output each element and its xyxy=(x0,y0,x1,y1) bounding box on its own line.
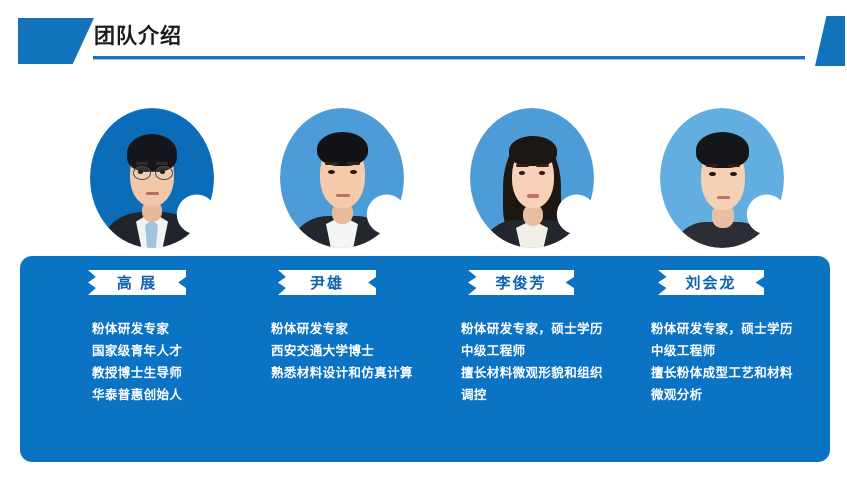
avatar-member-1 xyxy=(78,104,226,252)
bio-line: 西安交通大学博士 xyxy=(271,340,413,362)
portrait-brow-right-4 xyxy=(727,164,740,167)
portrait-eye-left-1 xyxy=(138,170,143,174)
portrait-eye-right-3 xyxy=(539,171,545,175)
portrait-eye-right-1 xyxy=(160,170,165,174)
bio-line: 擅长材料微观形貌和组织 xyxy=(461,362,603,384)
member-name-4: 刘会龙 xyxy=(685,272,736,293)
portrait-mouth-3 xyxy=(527,194,539,198)
member-bio-2: 粉体研发专家 西安交通大学博士 熟悉材料设计和仿真计算 xyxy=(271,318,413,384)
avatar-photo-1 xyxy=(90,108,214,248)
member-bio-4: 粉体研发专家，硕士学历 中级工程师 擅长粉体成型工艺和材料 微观分析 xyxy=(651,318,793,406)
name-badge-2: 尹雄 xyxy=(278,270,376,295)
portrait-tie-1 xyxy=(145,220,158,248)
portrait-glasses-bridge-1 xyxy=(149,171,155,172)
portrait-brow-right-1 xyxy=(156,162,168,165)
bio-line: 国家级青年人才 xyxy=(92,340,182,362)
bio-line: 擅长粉体成型工艺和材料 xyxy=(651,362,793,384)
name-badge-1: 高 展 xyxy=(88,270,186,295)
name-badge-3: 李俊芳 xyxy=(468,270,574,295)
bio-line: 粉体研发专家 xyxy=(271,318,413,340)
portrait-brow-right-3 xyxy=(536,164,549,167)
header-divider-soft xyxy=(93,59,805,60)
avatar-row xyxy=(0,104,847,264)
portrait-mouth-1 xyxy=(146,192,159,195)
portrait-brow-left-4 xyxy=(706,164,719,167)
portrait-brow-left-3 xyxy=(516,164,529,167)
portrait-hair-4 xyxy=(696,132,749,168)
portrait-eye-left-3 xyxy=(519,171,525,175)
header-left-parallelogram-icon xyxy=(18,18,94,64)
page-title: 团队介绍 xyxy=(94,20,182,50)
member-bio-1: 粉体研发专家 国家级青年人才 教授博士生导师 华泰普惠创始人 xyxy=(92,318,182,406)
members-panel: 高 展 尹雄 李俊芳 刘会龙 粉体研发专家 国家级青年人才 教授博士生导师 华泰… xyxy=(20,256,830,462)
portrait-eye-right-4 xyxy=(730,172,737,176)
slide-root: 团队介绍 xyxy=(0,0,847,479)
avatar-photo-2 xyxy=(280,108,404,248)
member-bio-3: 粉体研发专家，硕士学历 中级工程师 擅长材料微观形貌和组织 调控 xyxy=(461,318,603,406)
avatar-member-2 xyxy=(268,104,416,252)
name-badge-4: 刘会龙 xyxy=(658,270,764,295)
bio-line: 中级工程师 xyxy=(461,340,603,362)
portrait-brow-left-1 xyxy=(136,162,148,165)
portrait-brow-left-2 xyxy=(325,162,339,165)
portrait-hair-front-3 xyxy=(509,136,557,166)
portrait-eye-left-4 xyxy=(709,172,716,176)
bio-line: 中级工程师 xyxy=(651,340,793,362)
avatar-member-4 xyxy=(648,104,796,252)
bio-line: 教授博士生导师 xyxy=(92,362,182,384)
bio-line: 熟悉材料设计和仿真计算 xyxy=(271,362,413,384)
portrait-mouth-4 xyxy=(717,196,730,199)
portrait-brow-right-2 xyxy=(346,162,360,165)
portrait-hair-1 xyxy=(127,134,177,172)
member-name-1: 高 展 xyxy=(117,272,157,293)
header-right-parallelogram-icon xyxy=(815,16,845,66)
member-name-3: 李俊芳 xyxy=(495,272,546,293)
portrait-eye-left-2 xyxy=(328,170,335,174)
portrait-eye-right-2 xyxy=(350,170,357,174)
avatar-member-3 xyxy=(458,104,606,252)
bio-line: 华泰普惠创始人 xyxy=(92,384,182,406)
portrait-mouth-2 xyxy=(336,194,350,197)
bio-line: 微观分析 xyxy=(651,384,793,406)
avatar-photo-3 xyxy=(470,108,594,248)
avatar-photo-4 xyxy=(660,108,784,248)
member-name-2: 尹雄 xyxy=(310,272,344,293)
bio-line: 调控 xyxy=(461,384,603,406)
portrait-hair-2 xyxy=(317,132,368,166)
bio-line: 粉体研发专家，硕士学历 xyxy=(461,318,603,340)
slide-header: 团队介绍 xyxy=(0,0,847,86)
bio-line: 粉体研发专家，硕士学历 xyxy=(651,318,793,340)
bio-line: 粉体研发专家 xyxy=(92,318,182,340)
